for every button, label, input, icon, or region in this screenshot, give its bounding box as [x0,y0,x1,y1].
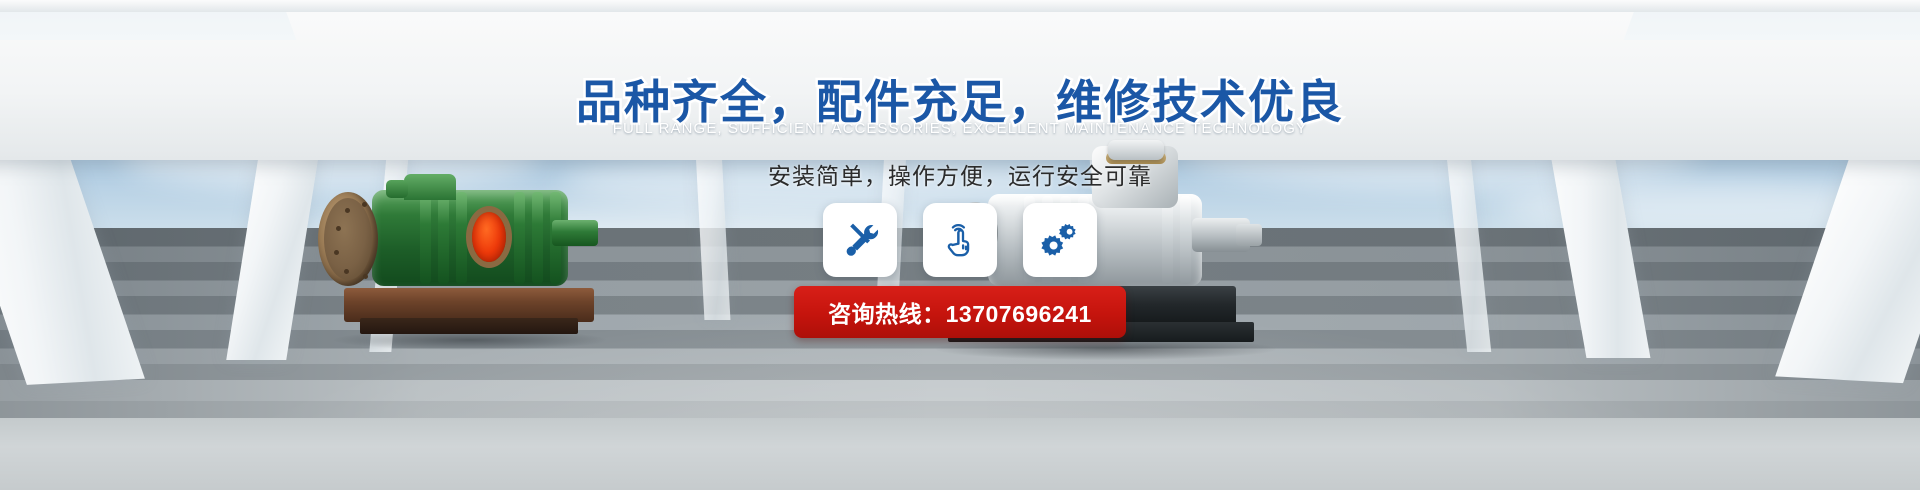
feature-tile-gears[interactable] [1023,203,1097,277]
tools-icon [840,220,880,260]
promo-banner: 品种齐全，配件充足，维修技术优良 FULL RANGE, SUFFICIENT … [0,0,1920,490]
click-hand-icon [940,220,980,260]
banner-subtitle-chinese: 安装简单，操作方便，运行安全可靠 [0,157,1920,191]
gears-icon [1040,220,1080,260]
feature-tile-click-hand[interactable] [923,203,997,277]
banner-content: 品种齐全，配件充足，维修技术优良 FULL RANGE, SUFFICIENT … [0,0,1920,490]
hotline-row: 咨询热线：13707696241 [0,286,1920,338]
feature-icon-row [0,203,1920,277]
banner-subtitle-english: FULL RANGE, SUFFICIENT ACCESSORIES, EXCE… [0,120,1920,137]
hotline-banner[interactable]: 咨询热线：13707696241 [794,286,1126,338]
feature-tile-tools[interactable] [823,203,897,277]
